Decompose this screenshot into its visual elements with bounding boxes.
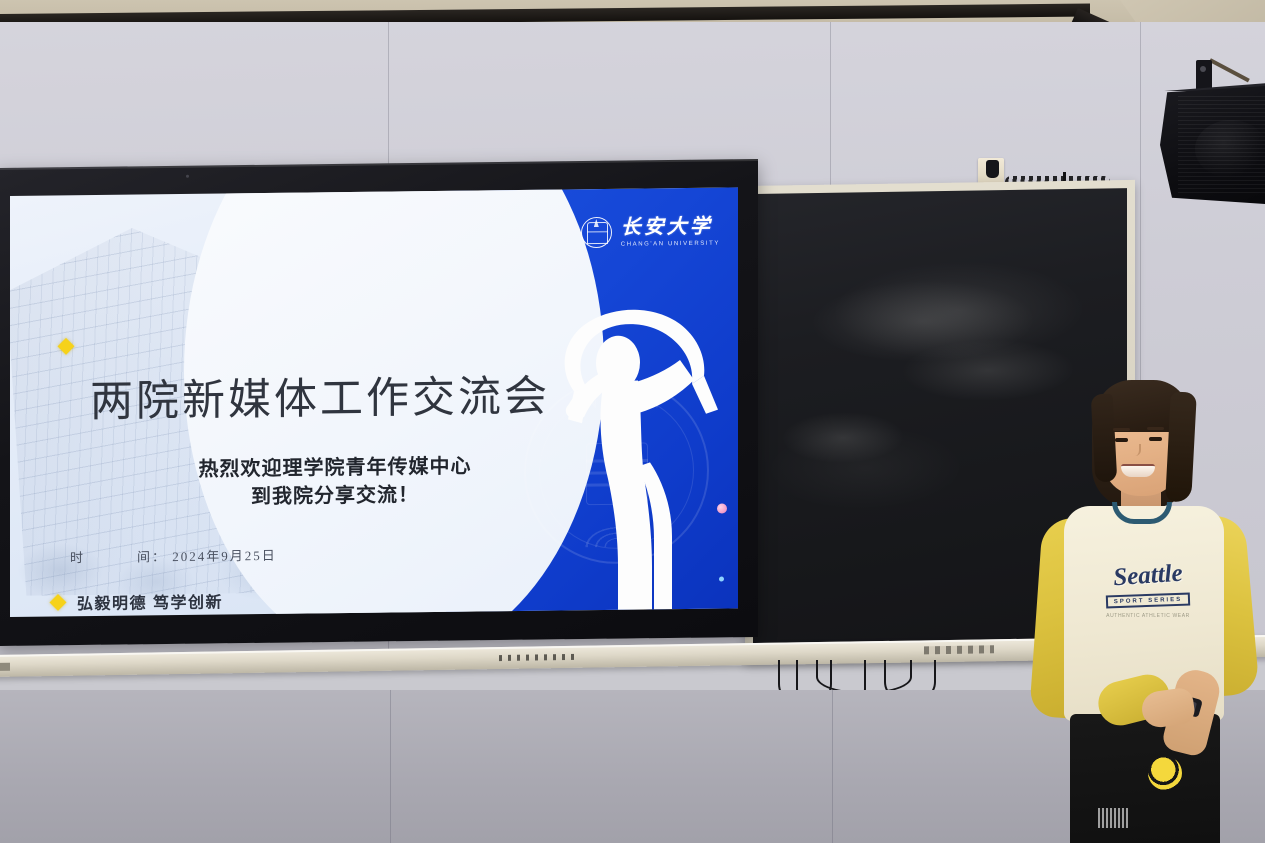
date-label2: 间：	[137, 549, 167, 564]
eyebrow-left	[1113, 428, 1130, 431]
university-name-block: 长安大学 CHANG'AN UNIVERSITY	[621, 216, 720, 247]
speaker-cone	[1195, 120, 1265, 178]
eye-right	[1149, 437, 1162, 441]
hair-left-side	[1091, 393, 1118, 482]
shorts-tag	[1098, 808, 1128, 828]
eye-left	[1115, 438, 1128, 442]
eyebrow-right	[1147, 427, 1164, 430]
date-label: 时	[70, 550, 85, 565]
slogan-text: 弘毅明德 笃学创新	[77, 588, 223, 614]
bezel-sensor-icon	[186, 175, 189, 178]
person-presenter: Seattle SPORT SERIES AUTHENTIC ATHLETIC …	[1020, 378, 1265, 843]
university-emblem-icon	[581, 217, 612, 248]
shirt-subtext: AUTHENTIC ATHLETIC WEAR	[1100, 612, 1196, 621]
blue-indicator-dot	[719, 577, 724, 582]
university-logo: 长安大学 CHANG'AN UNIVERSITY	[581, 216, 720, 249]
shorts-logo-icon	[1148, 756, 1182, 790]
mouth-smile	[1121, 464, 1155, 477]
chalk-smudge	[813, 280, 1033, 363]
presentation-slide[interactable]: AN UNIV 长安大学 CHANG'AN UNIVERSIT	[10, 187, 738, 617]
diamond-bullet-icon	[50, 594, 67, 611]
slogan-row: 弘毅明德 笃学创新	[52, 588, 223, 614]
chalk-smudge	[783, 412, 903, 464]
slide-subtitle-line2: 到我院分享交流！	[155, 480, 515, 513]
slide-title: 两院新媒体工作交流会	[90, 362, 540, 429]
rail-end-clip	[0, 663, 10, 671]
slide-subtitle: 热烈欢迎理学院青年传媒中心 到我院分享交流！	[155, 452, 515, 513]
hair-right-side	[1165, 391, 1197, 502]
classroom-scene: AN UNIV 长安大学 CHANG'AN UNIVERSIT	[0, 0, 1265, 843]
rail-port-panel[interactable]	[924, 645, 994, 654]
slide-date-line: 时间： 2024年9月25日	[70, 545, 277, 566]
shirt-banner-text: SPORT SERIES	[1114, 596, 1183, 604]
lower-wall-seam	[390, 690, 391, 843]
date-value: 2024年9月25日	[172, 548, 277, 564]
university-name-cn: 长安大学	[621, 216, 720, 237]
pink-indicator-dot	[717, 503, 727, 513]
rail-speaker-holes-icon	[499, 654, 577, 661]
university-name-en: CHANG'AN UNIVERSITY	[621, 240, 720, 247]
statue-silhouette-icon	[522, 279, 730, 610]
slide-subtitle-line1: 热烈欢迎理学院青年传媒中心	[155, 452, 515, 485]
lower-wall-seam	[832, 690, 833, 843]
